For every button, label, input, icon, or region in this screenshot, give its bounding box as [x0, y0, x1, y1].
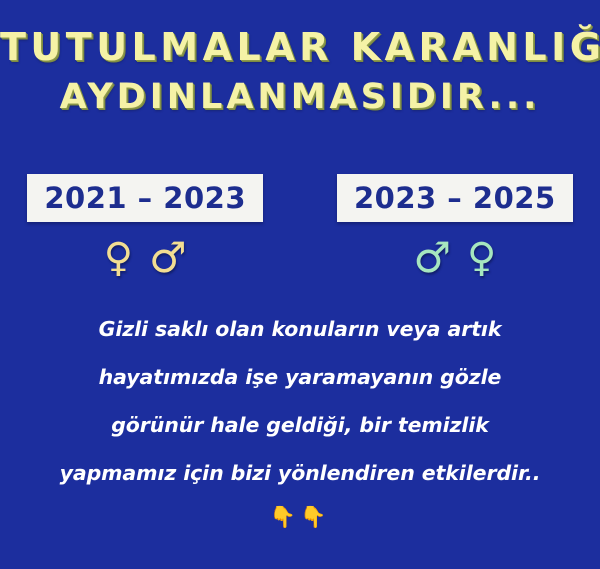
period-group: 2021 – 2023 ♀ ♂ 2023 – 2025 ♂ ♀ — [0, 174, 600, 285]
body-line: yapmamız için bizi yönlendiren etkilerdi… — [0, 449, 600, 497]
point-down-icon: 👇 — [270, 505, 300, 529]
body-line: görünür hale geldiği, bir temizlik — [0, 401, 600, 449]
footer-emoji-row: 👇👇 — [0, 503, 600, 531]
year-range-badge: 2021 – 2023 — [27, 174, 263, 222]
venus-symbol-icon: ♀ — [467, 238, 496, 278]
body-paragraph: Gizli saklı olan konuların veya artık ha… — [0, 305, 600, 497]
title-line-2: AYDINLANMASIDIR... — [0, 72, 600, 122]
period-block-2023-2025: 2023 – 2025 ♂ ♀ — [337, 174, 573, 285]
poster-canvas: TUTULMALAR KARANLIĞIN AYDINLANMASIDIR...… — [0, 0, 600, 569]
title-line-1: TUTULMALAR KARANLIĞIN — [0, 22, 600, 72]
page-title: TUTULMALAR KARANLIĞIN AYDINLANMASIDIR... — [0, 22, 600, 122]
mars-symbol-icon: ♂ — [413, 237, 451, 279]
point-down-icon: 👇 — [300, 505, 330, 529]
mars-symbol-icon: ♂ — [149, 237, 187, 279]
year-range-badge: 2023 – 2025 — [337, 174, 573, 222]
symbol-row: ♀ ♂ — [104, 231, 187, 285]
period-block-2021-2023: 2021 – 2023 ♀ ♂ — [27, 174, 263, 285]
body-line: Gizli saklı olan konuların veya artık — [0, 305, 600, 353]
symbol-row: ♂ ♀ — [413, 231, 496, 285]
body-line: hayatımızda işe yaramayanın gözle — [0, 353, 600, 401]
venus-symbol-icon: ♀ — [104, 238, 133, 278]
